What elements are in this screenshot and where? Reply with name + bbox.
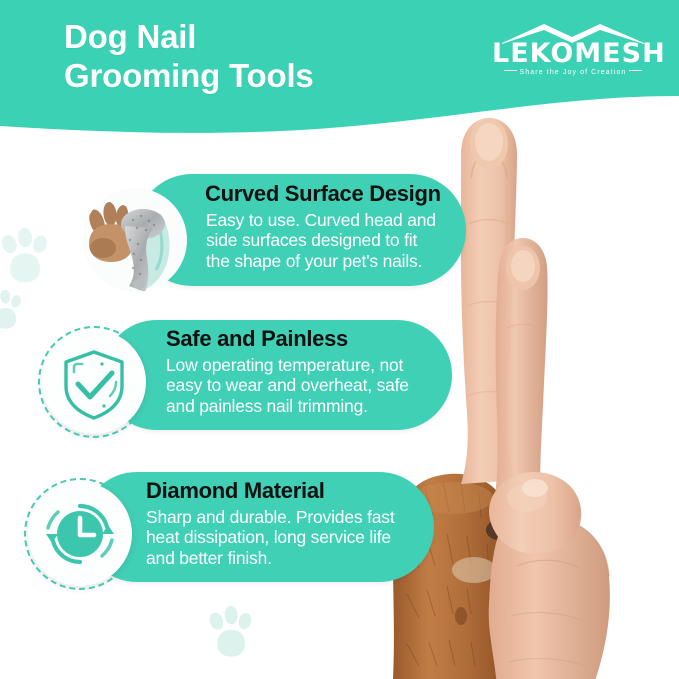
clock-refresh-icon-circle [28,482,132,586]
paw-watermark-icon [0,228,54,290]
brand-tagline-text: Share the Joy of Creation [520,69,627,76]
feature-body: Sharp and durable. Provides fast heat di… [146,507,436,568]
paw-watermark-icon [0,290,26,334]
paw-watermark-icon [206,606,258,664]
feature-title: Curved Surface Design [205,181,441,207]
dashed-ring [38,326,150,438]
page-title: Dog Nail Grooming Tools [64,18,314,96]
feature-title: Safe and Painless [166,326,348,352]
shield-check-icon-circle [42,330,146,434]
brand-logo: LEKOMESH Share the Joy of Creation [492,22,654,84]
infographic-canvas: Dog Nail Grooming Tools LEKOMESH Share t… [0,0,679,679]
brand-name: LEKOMESH [492,38,654,69]
feature-body: Low operating temperature, not easy to w… [166,355,450,416]
brand-tagline: Share the Joy of Creation [492,69,654,76]
feature-body: Easy to use. Curved head and side surfac… [206,210,474,271]
header-banner: Dog Nail Grooming Tools LEKOMESH Share t… [0,0,679,140]
dashed-ring [83,188,187,292]
dashed-ring [24,478,136,590]
feature-title: Diamond Material [146,478,325,504]
grinder-bit-photo [83,188,187,292]
